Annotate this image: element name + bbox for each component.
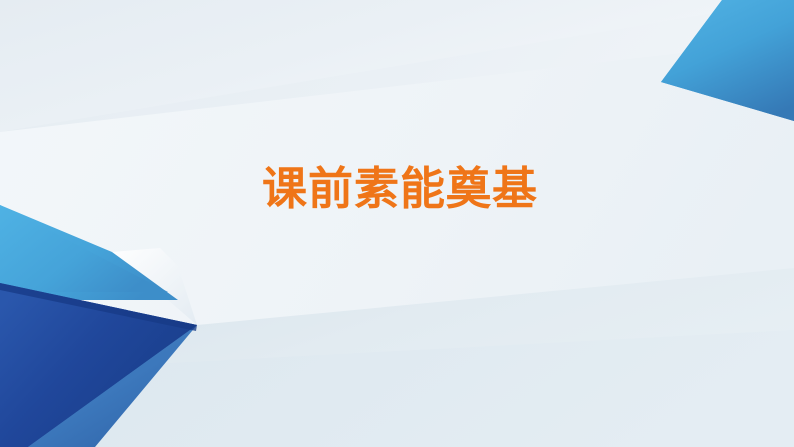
slide-background-graphics (0, 0, 794, 447)
presentation-slide: 课前素能奠基 (0, 0, 794, 447)
